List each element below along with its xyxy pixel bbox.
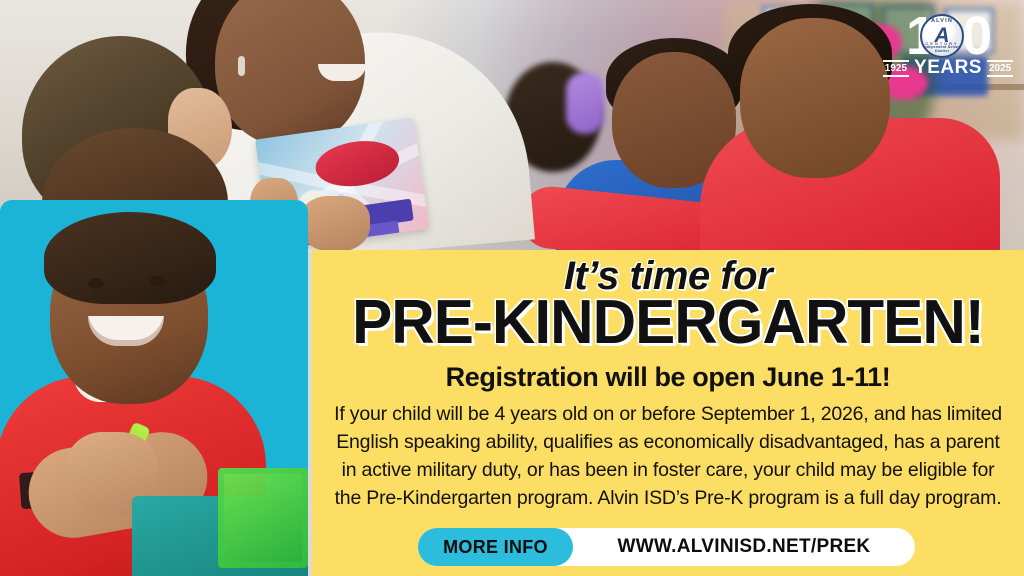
logo-year-end: 2025 xyxy=(987,60,1013,77)
boy-hair xyxy=(44,212,216,304)
logo-years-label: YEARS xyxy=(914,57,982,79)
page-title: PRE-KINDERGARTEN! xyxy=(323,292,1014,354)
more-info-button[interactable]: MORE INFO xyxy=(418,528,573,566)
teacher-earring xyxy=(238,56,245,76)
boy-eye-left xyxy=(88,278,104,289)
boy-eye-right xyxy=(150,276,166,287)
inset-photo-card xyxy=(0,200,308,576)
child-red-sweater-head xyxy=(740,18,890,178)
cta-bar: MORE INFO WWW.ALVINISD.NET/PREK xyxy=(418,528,915,566)
website-url-link[interactable]: WWW.ALVINISD.NET/PREK xyxy=(573,536,915,558)
headphones xyxy=(566,72,604,134)
yellow-content-panel: It’s time for PRE-KINDERGARTEN! Registra… xyxy=(312,250,1024,576)
logo-year-start: 1925 xyxy=(883,60,909,77)
eligibility-paragraph: If your child will be 4 years old on or … xyxy=(330,400,1006,512)
alvin-isd-100-years-logo: 100 ALVIN A CENTURY Independent School D… xyxy=(886,10,1010,82)
seal-bottom-arc-text: Independent School District xyxy=(922,45,962,53)
logo-years-row: 1925 YEARS 2025 xyxy=(886,58,1010,78)
green-building-blocks xyxy=(218,468,308,568)
alvin-isd-seal-icon: ALVIN A CENTURY Independent School Distr… xyxy=(920,14,964,58)
registration-subhead: Registration will be open June 1-11! xyxy=(312,362,1024,393)
teacher-hand xyxy=(300,196,370,252)
prek-registration-poster: It’s time for PRE-KINDERGARTEN! Registra… xyxy=(0,0,1024,576)
